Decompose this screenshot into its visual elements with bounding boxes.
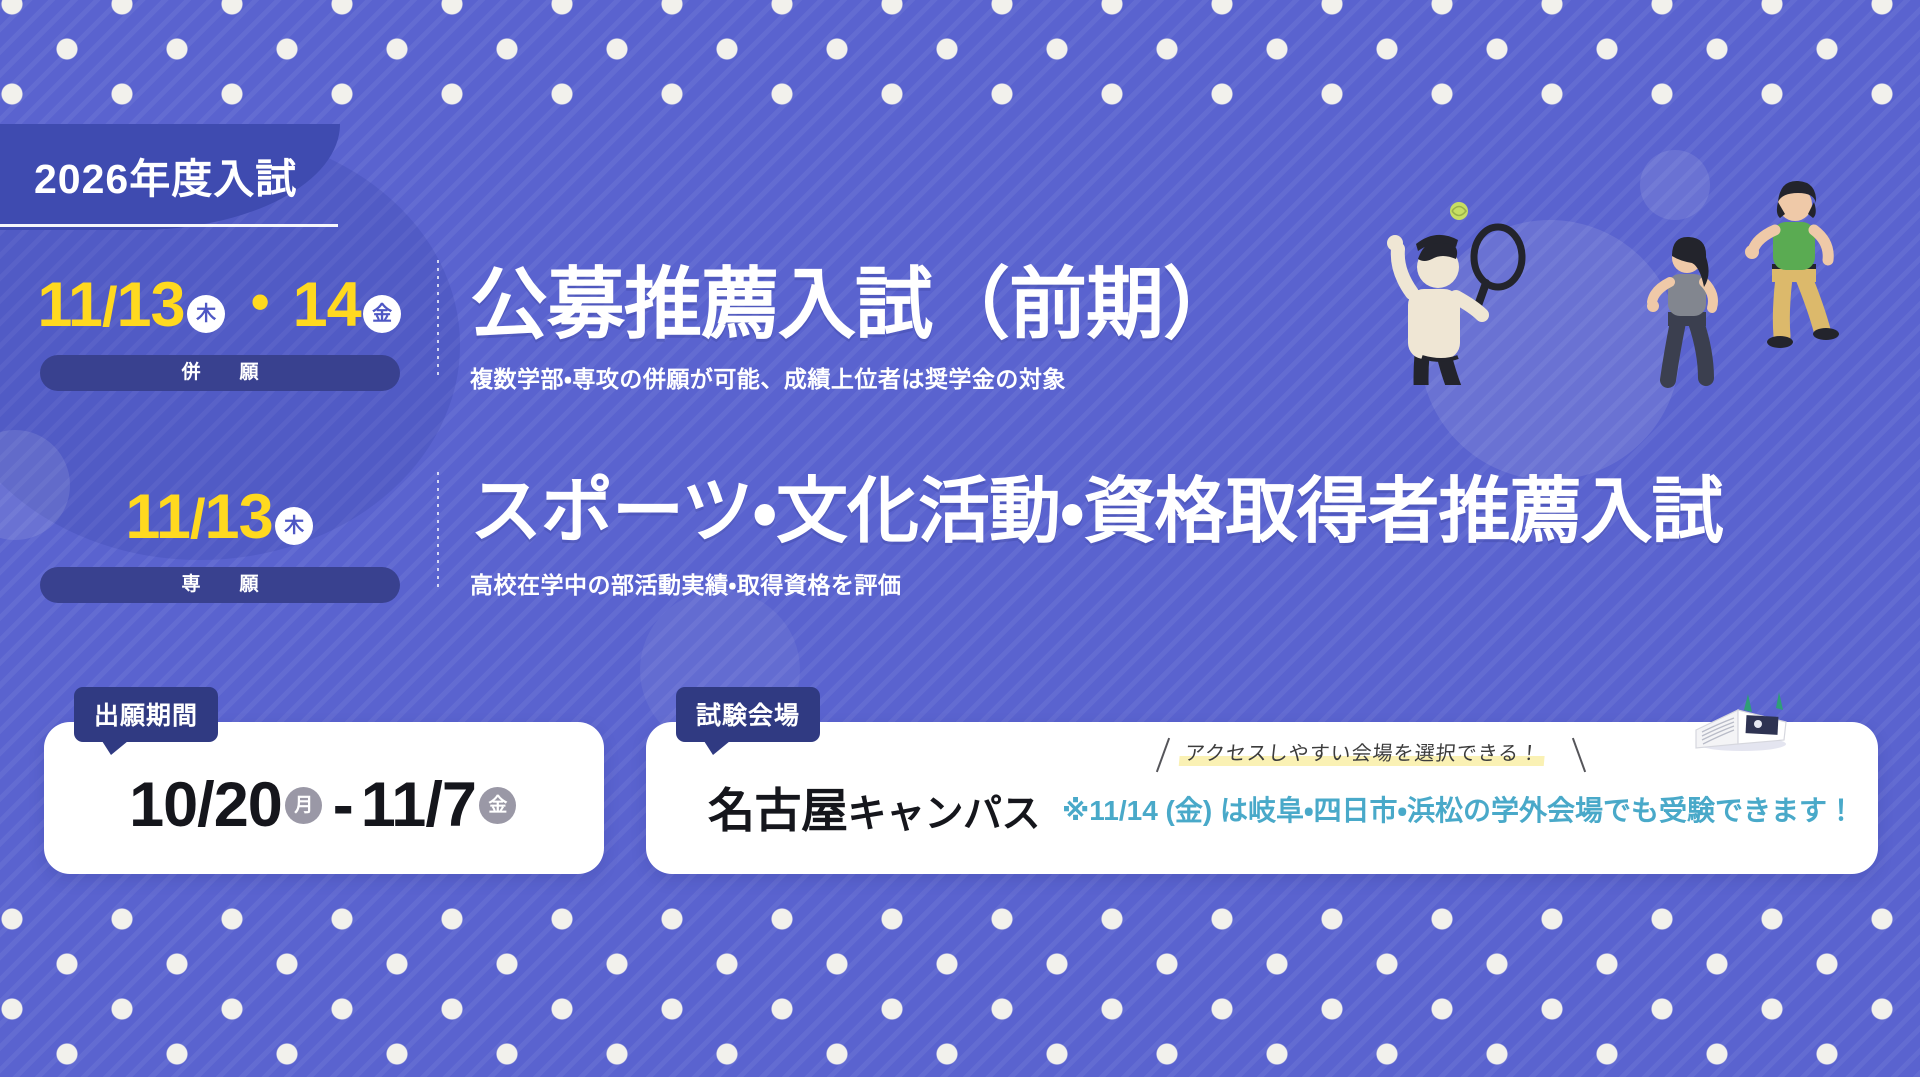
exam-1-subtitle: 複数学部・専攻の併願が可能、成績上位者は奨学金の対象	[470, 360, 1240, 394]
exam-1-date-separator: ・	[229, 270, 291, 340]
exam-1-application-type-badge: 併 願	[40, 355, 400, 391]
polka-dot-band-top	[0, 0, 1920, 127]
exam-2-divider	[437, 472, 439, 592]
exam-2-title: スポーツ・文化活動・資格取得者推薦入試	[470, 474, 1723, 552]
exam-2-day: 13	[205, 482, 273, 552]
admissions-banner: 2026年度入試	[0, 0, 1920, 1077]
year-underline	[0, 224, 338, 227]
venue-handwritten-note: アクセスしやすい会場を選択できる！	[1179, 737, 1547, 766]
tennis-player-illustration	[1326, 185, 1566, 390]
exam-2-dow-badge: 木	[275, 507, 313, 545]
application-start-date: 10/20	[129, 769, 282, 841]
exam-1-divider	[437, 260, 439, 380]
exam-1-title-column: 公募推薦入試（前期） 複数学部・専攻の併願が可能、成績上位者は奨学金の対象	[470, 262, 1240, 394]
exam-2-title-column: スポーツ・文化活動・資格取得者推薦入試 高校在学中の部活動実績・取得資格を評価	[470, 474, 1723, 600]
exam-2-application-type-badge: 専 願	[40, 567, 400, 603]
exam-1-dow-badge: 木	[187, 295, 225, 333]
exam-1-date: 11/13木・14金	[20, 268, 420, 344]
note-slash-left-icon	[1156, 738, 1170, 773]
note-slash-right-icon	[1572, 738, 1586, 773]
decor-blob-right	[1420, 220, 1680, 480]
venue-name: 名古屋キャンパス	[708, 772, 1040, 841]
venue-name-main: 名古屋	[708, 784, 848, 837]
exam-2-subtitle: 高校在学中の部活動実績・取得資格を評価	[470, 566, 1723, 600]
exam-2-month: 11	[125, 482, 190, 552]
year-label: 2026年度入試	[0, 146, 297, 212]
book-icon	[1688, 686, 1792, 752]
exam-1-month: 11	[37, 270, 102, 340]
exam-1-day2: 14	[293, 270, 361, 340]
venue-offsite-note: ※11/14 (金) は岐阜・四日市・浜松の学外会場でも受験できます！	[1062, 789, 1855, 829]
walking-students-illustration	[1640, 160, 1890, 395]
polka-dot-band-bottom	[0, 907, 1920, 1077]
venue-note-group: アクセスしやすい会場を選択できる！ ※11/14 (金) は岐阜・四日市・浜松の…	[1062, 783, 1855, 829]
exam-1-date-column: 11/13木・14金 併 願	[20, 268, 420, 391]
exam-1-dow2-badge: 金	[363, 295, 401, 333]
exam-1-title: 公募推薦入試（前期）	[470, 262, 1240, 346]
application-start-dow-badge: 月	[285, 787, 322, 824]
application-end-dow-badge: 金	[479, 787, 516, 824]
application-period-card: 出願期間 10/20月-11/7金	[44, 722, 604, 874]
exam-1-day: 13	[117, 270, 185, 340]
application-end-date: 11/7	[361, 769, 476, 841]
exam-2-date: 11/13木	[20, 480, 420, 556]
application-period-dates: 10/20月-11/7金	[44, 722, 604, 874]
exam-2-date-column: 11/13木 専 願	[20, 480, 420, 603]
venue-handwritten-note-text: アクセスしやすい会場を選択できる！	[1179, 741, 1547, 767]
year-ribbon: 2026年度入試	[0, 146, 297, 212]
decor-blob-small-right	[1640, 150, 1710, 220]
application-date-dash: -	[333, 769, 353, 841]
venue-name-sub: キャンパス	[848, 793, 1041, 836]
